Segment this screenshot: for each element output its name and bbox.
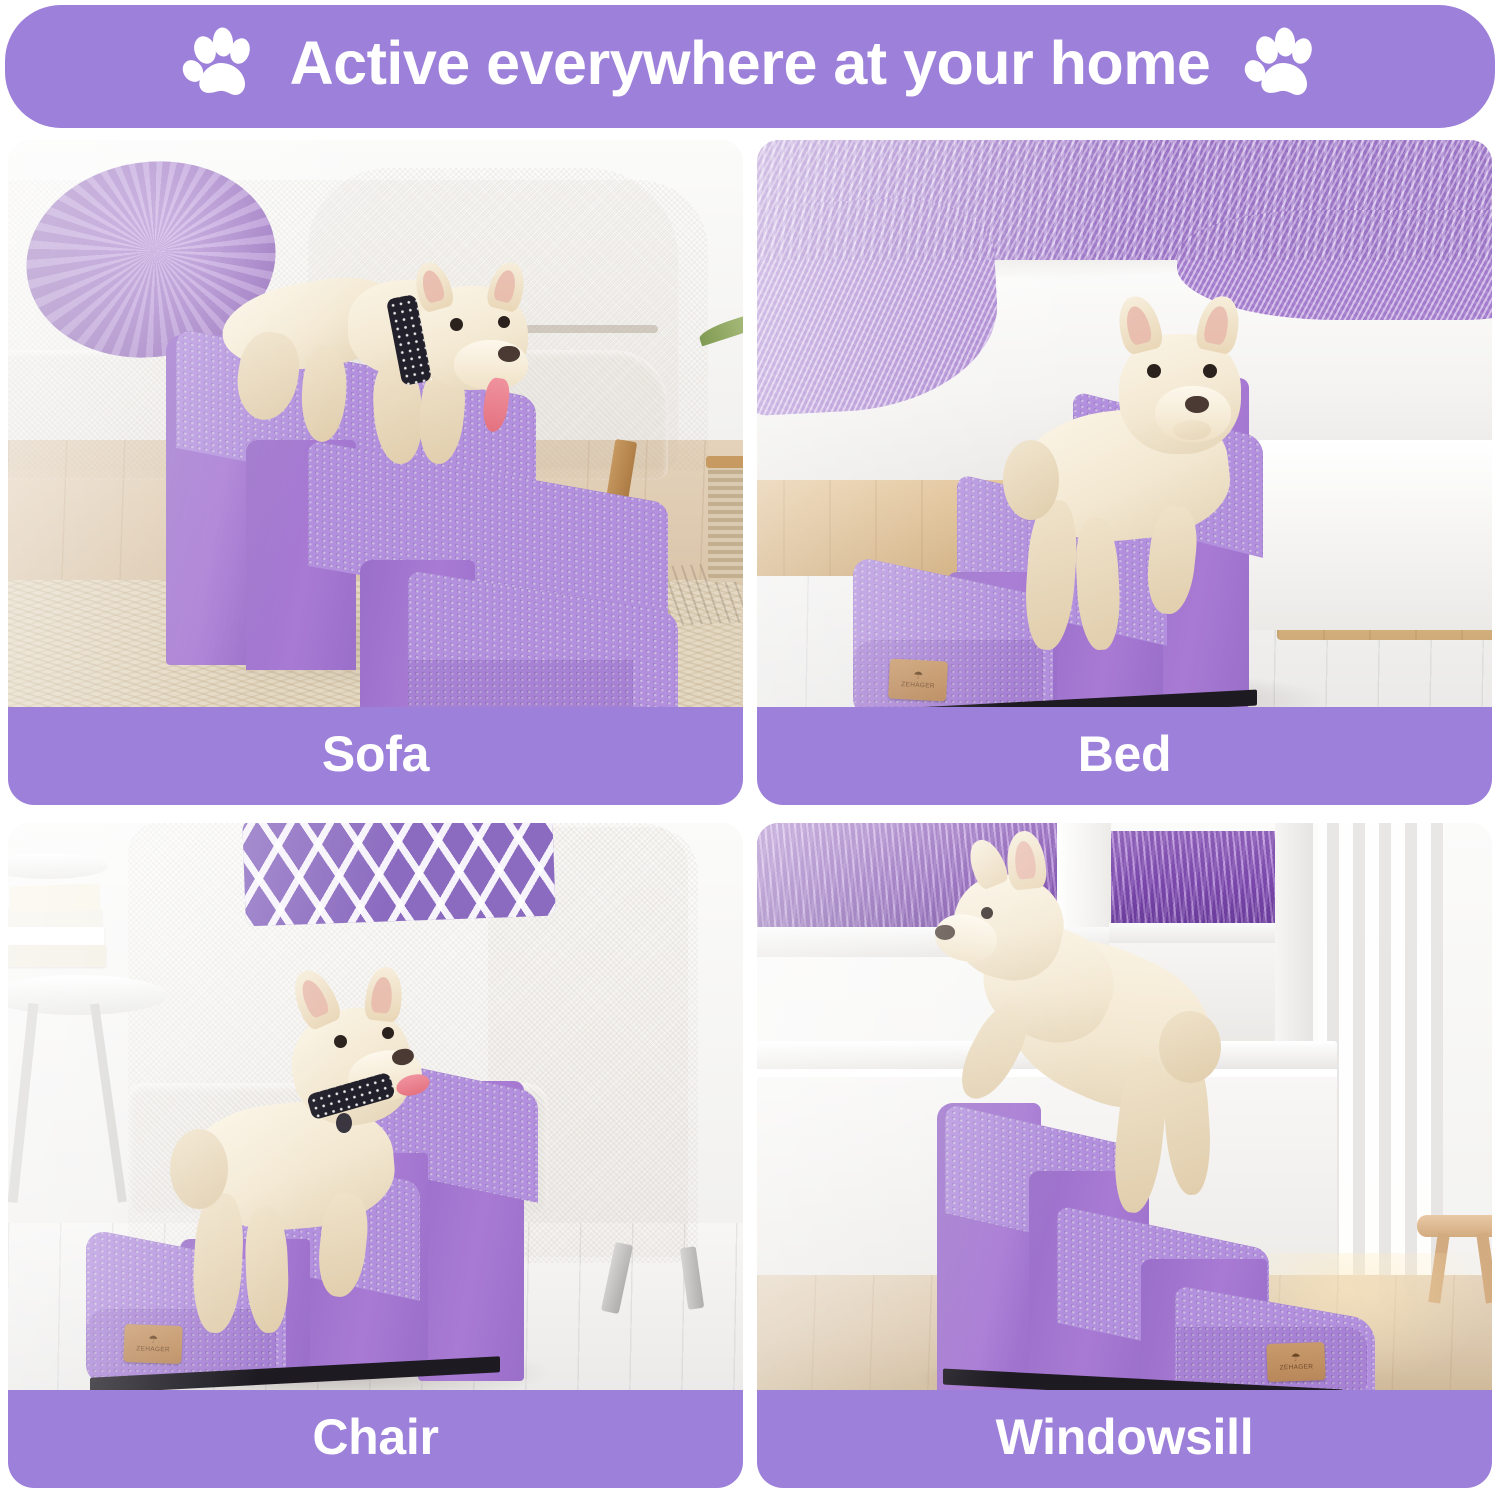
- panel-bed: ☂ ZEHAGER: [757, 140, 1492, 805]
- brand-tag: ☂ ZEHAGER: [888, 659, 948, 702]
- brand-tag-mark: ☂: [1291, 1353, 1301, 1364]
- banner-title: Active everywhere at your home: [290, 33, 1211, 100]
- paw-print-icon-right: [1244, 27, 1318, 107]
- scene-bedroom-bed: ☂ ZEHAGER: [757, 140, 1492, 707]
- brand-tag-mark: ☂: [148, 1335, 158, 1346]
- panel-sofa: ☂ ZEHAGER: [8, 140, 743, 805]
- caption-label: Windowsill: [996, 1412, 1254, 1467]
- caption-label: Chair: [312, 1412, 438, 1467]
- panel-grid: ☂ ZEHAGER: [0, 140, 1500, 1472]
- dog: [198, 236, 538, 486]
- header-banner: Active everywhere at your home: [5, 5, 1495, 128]
- dog: [967, 290, 1267, 660]
- brand-tag-text: ZEHAGER: [1279, 1364, 1313, 1372]
- scene-living-room-armchair: ☂ ZEHAGER: [8, 823, 743, 1390]
- brand-tag-text: ZEHAGER: [136, 1346, 170, 1354]
- dog: [128, 943, 448, 1323]
- caption-label: Sofa: [322, 729, 429, 784]
- caption-chair: Chair: [8, 1390, 743, 1488]
- dog: [909, 831, 1249, 1231]
- scene-bay-window: ☂ ZEHAGER: [757, 823, 1492, 1390]
- caption-label: Bed: [1078, 729, 1172, 784]
- panel-windowsill: ☂ ZEHAGER: [757, 823, 1492, 1488]
- brand-tag-mark: ☂: [913, 671, 923, 683]
- brand-tag: ☂ ZEHAGER: [123, 1324, 182, 1364]
- brand-tag-text: ZEHAGER: [901, 681, 935, 689]
- brand-tag: ☂ ZEHAGER: [1266, 1342, 1325, 1382]
- caption-sofa: Sofa: [8, 707, 743, 805]
- caption-bed: Bed: [757, 707, 1492, 805]
- caption-windowsill: Windowsill: [757, 1390, 1492, 1488]
- panel-chair: ☂ ZEHAGER: [8, 823, 743, 1488]
- paw-print-icon-left: [182, 27, 256, 107]
- scene-living-room-sofa: ☂ ZEHAGER: [8, 140, 743, 707]
